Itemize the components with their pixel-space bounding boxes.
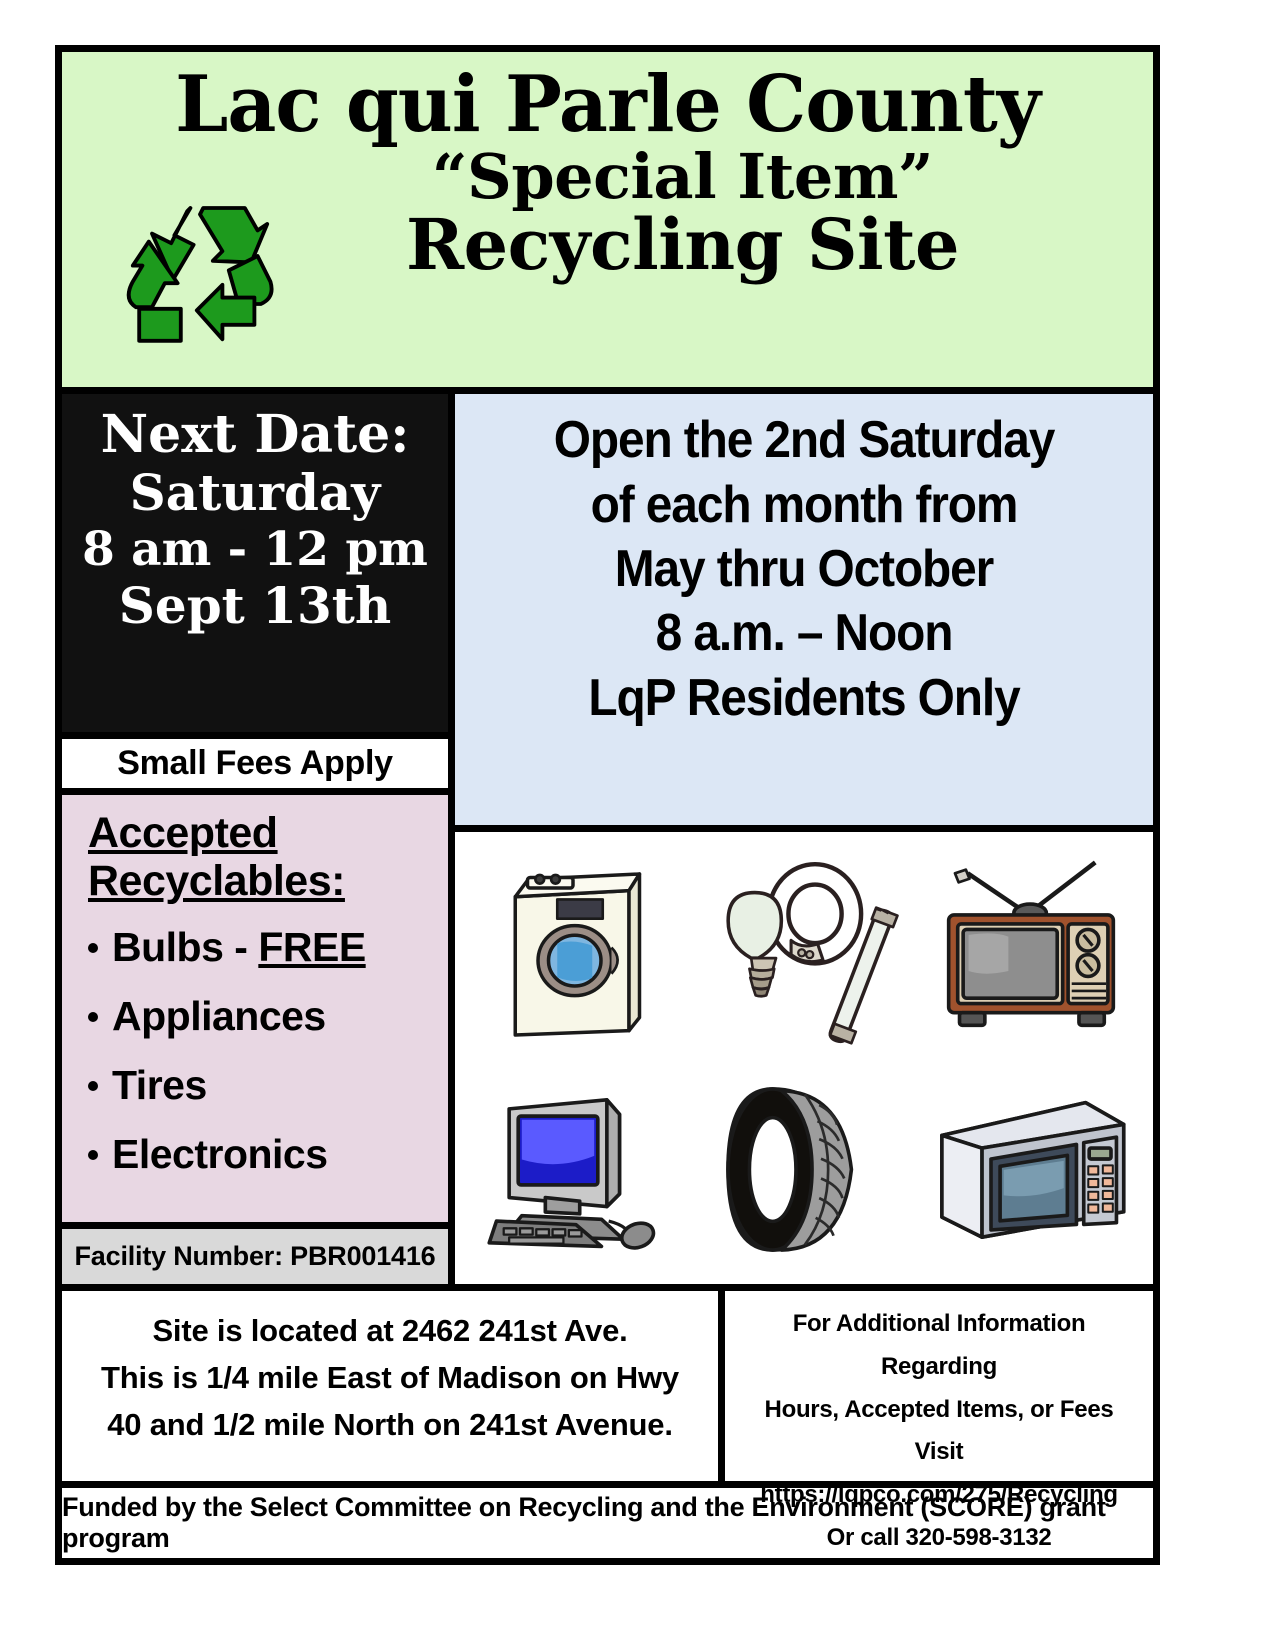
list-item: Electronics <box>88 1134 448 1175</box>
desktop-computer-icon <box>463 1058 690 1280</box>
additional-info-line-1: For Additional Information Regarding <box>733 1303 1145 1388</box>
left-column: Next Date: Saturday 8 am - 12 pm Sept 13… <box>62 394 455 1284</box>
facility-number-label: Facility Number: PBR001416 <box>75 1241 436 1272</box>
recycle-icon <box>120 192 280 352</box>
location-line-1: Site is located at 2462 241st Ave. <box>70 1307 710 1354</box>
flyer-header: Lac qui Parle County “Special Item” Recy… <box>62 52 1153 394</box>
recyclable-text: Appliances <box>112 996 326 1037</box>
list-item: Appliances <box>88 996 448 1037</box>
recyclables-heading-line1: Accepted <box>88 809 278 857</box>
light-bulbs-icon <box>690 836 917 1058</box>
bullet-icon <box>88 1081 98 1091</box>
bullet-icon <box>88 943 98 953</box>
open-info-line-3: May thru October <box>494 537 1114 601</box>
list-item: Bulbs - FREE <box>88 927 448 968</box>
recyclable-text: Electronics <box>112 1134 328 1175</box>
recyclable-text: Tires <box>112 1065 207 1106</box>
funding-footer: Funded by the Select Committee on Recycl… <box>62 1481 1153 1558</box>
open-info-line-2: of each month from <box>494 473 1114 537</box>
open-info-line-1: Open the 2nd Saturday <box>494 408 1114 472</box>
additional-info-line-2: Hours, Accepted Items, or Fees <box>733 1389 1145 1432</box>
tire-icon <box>690 1058 917 1280</box>
small-fees-label: Small Fees Apply <box>117 744 392 783</box>
facility-number-bar: Facility Number: PBR001416 <box>62 1229 448 1284</box>
right-column: Open the 2nd Saturday of each month from… <box>455 394 1153 1284</box>
recyclables-list: Bulbs - FREE Appliances Tires Electronic… <box>88 927 448 1175</box>
location-line-3: 40 and 1/2 mile North on 241st Avenue. <box>70 1401 710 1448</box>
recyclables-heading: Accepted Recyclables: <box>88 809 448 905</box>
additional-info-panel: For Additional Information Regarding Hou… <box>725 1291 1153 1481</box>
recycling-flyer: Lac qui Parle County “Special Item” Recy… <box>55 45 1160 1565</box>
small-fees-bar: Small Fees Apply <box>62 739 448 795</box>
accepted-recyclables-panel: Accepted Recyclables: Bulbs - FREE Appli… <box>62 795 448 1229</box>
funding-footer-text: Funded by the Select Committee on Recycl… <box>62 1492 1153 1554</box>
next-date-value: Sept 13th <box>68 577 442 635</box>
middle-section: Next Date: Saturday 8 am - 12 pm Sept 13… <box>62 394 1153 1284</box>
recyclables-heading-line2: Recyclables: <box>88 857 345 905</box>
next-date-panel: Next Date: Saturday 8 am - 12 pm Sept 13… <box>62 394 448 739</box>
page-title: Lac qui Parle County <box>78 52 1136 144</box>
next-date-day: Saturday <box>68 464 442 522</box>
recyclable-emphasis: FREE <box>258 924 365 970</box>
microwave-icon <box>918 1058 1145 1280</box>
television-icon <box>918 836 1145 1058</box>
open-hours-panel: Open the 2nd Saturday of each month from… <box>455 394 1153 832</box>
next-date-label: Next Date: <box>68 406 442 464</box>
open-info-line-4: 8 a.m. – Noon <box>494 601 1114 665</box>
bullet-icon <box>88 1012 98 1022</box>
accepted-items-images <box>455 832 1153 1284</box>
recyclable-text: Bulbs - <box>112 924 258 970</box>
location-panel: Site is located at 2462 241st Ave. This … <box>62 1291 725 1481</box>
location-line-2: This is 1/4 mile East of Madison on Hwy <box>70 1354 710 1401</box>
list-item: Tires <box>88 1065 448 1106</box>
bottom-section: Site is located at 2462 241st Ave. This … <box>62 1284 1153 1481</box>
next-date-hours: 8 am - 12 pm <box>68 522 442 577</box>
open-info-line-5: LqP Residents Only <box>494 666 1114 730</box>
bullet-icon <box>88 1150 98 1160</box>
washing-machine-icon <box>463 836 690 1058</box>
